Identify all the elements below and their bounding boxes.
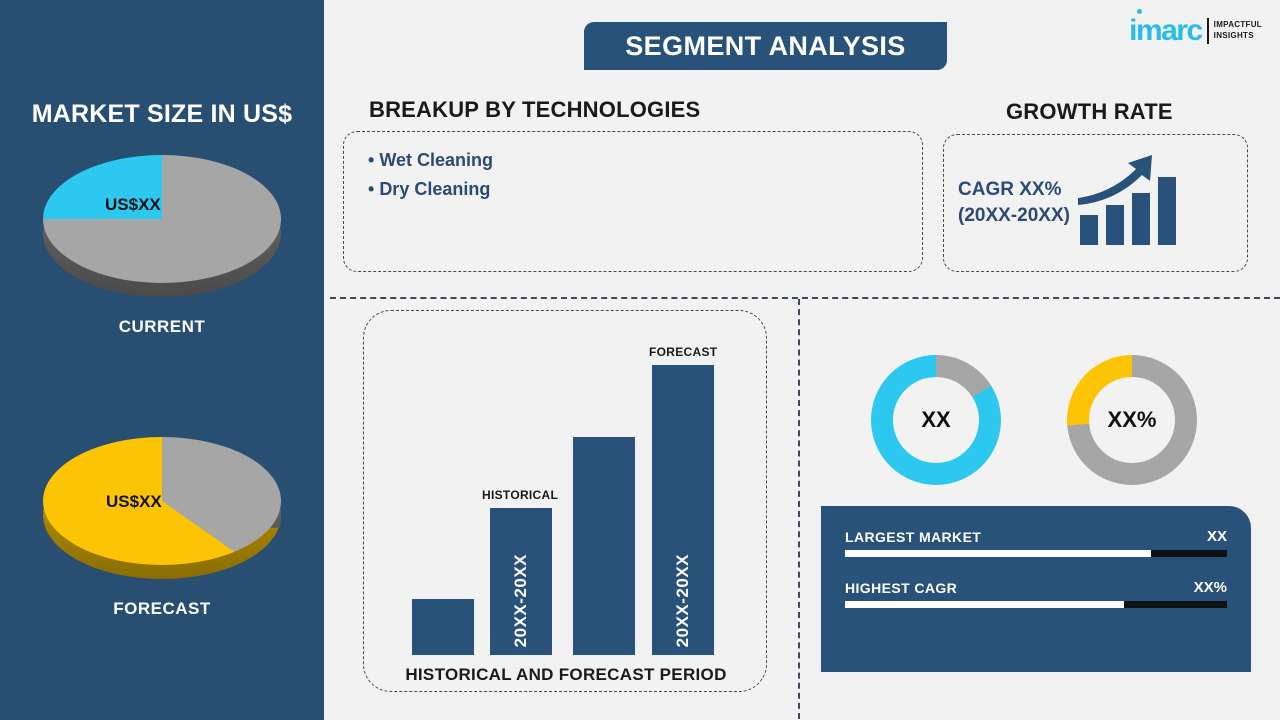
growth-rate-box: CAGR XX% (20XX-20XX) bbox=[943, 134, 1248, 272]
logo-word-text: imarc bbox=[1129, 14, 1202, 47]
page-title: SEGMENT ANALYSIS bbox=[584, 22, 947, 70]
sidebar: MARKET SIZE IN US$ US$XX CURRENT US$XX F… bbox=[0, 0, 324, 720]
historical-caption: HISTORICAL bbox=[482, 488, 558, 502]
pie-top-forecast bbox=[43, 437, 281, 565]
forecast-market-size-block: US$XX FORECAST bbox=[0, 437, 324, 619]
vertical-divider bbox=[798, 299, 800, 719]
bar-group: 20XX-20XX 20XX-20XX HISTORICAL FORECAST bbox=[364, 343, 768, 655]
horizontal-divider bbox=[330, 297, 1280, 299]
bar-4-label: 20XX-20XX bbox=[673, 554, 693, 647]
growth-rate-period: (20XX-20XX) bbox=[958, 203, 1070, 229]
forecast-caption: FORECAST bbox=[649, 345, 717, 359]
bullet-icon: • bbox=[368, 150, 374, 170]
pie-chart-forecast: US$XX bbox=[43, 437, 281, 587]
donut-chart-1: XX bbox=[871, 355, 1001, 485]
logo-tagline-line-2: INSIGHTS bbox=[1214, 31, 1262, 42]
growth-rate-text: CAGR XX% (20XX-20XX) bbox=[958, 177, 1070, 228]
stat-value-largest-market: XX bbox=[1207, 528, 1227, 545]
current-market-size-block: US$XX CURRENT bbox=[0, 155, 324, 337]
logo-tagline-line-1: IMPACTFUL bbox=[1214, 20, 1262, 31]
technology-item-label: Dry Cleaning bbox=[379, 179, 490, 199]
stat-label-largest-market: LARGEST MARKET bbox=[845, 529, 981, 545]
stat-progress-track-largest-market bbox=[845, 550, 1227, 557]
pie-caption-forecast: FORECAST bbox=[0, 599, 324, 619]
bar-1 bbox=[412, 599, 474, 655]
barchart-axis-label: HISTORICAL AND FORECAST PERIOD bbox=[364, 665, 768, 685]
stat-progress-fill-largest-market bbox=[845, 550, 1151, 557]
technologies-title: BREAKUP BY TECHNOLOGIES bbox=[369, 97, 700, 123]
sidebar-title: MARKET SIZE IN US$ bbox=[0, 100, 324, 129]
pie-top-current bbox=[43, 155, 281, 283]
pie-caption-current: CURRENT bbox=[0, 317, 324, 337]
stat-row-highest-cagr: HIGHEST CAGR XX% bbox=[845, 579, 1227, 608]
logo-divider bbox=[1207, 18, 1209, 44]
pie-chart-current: US$XX bbox=[43, 155, 281, 305]
logo-wordmark: imarc bbox=[1129, 16, 1202, 46]
bar-3 bbox=[573, 437, 635, 655]
growth-rate-title: GROWTH RATE bbox=[1006, 99, 1173, 125]
imarc-logo: imarc IMPACTFUL INSIGHTS bbox=[1129, 14, 1262, 48]
stat-progress-track-highest-cagr bbox=[845, 601, 1227, 608]
donut-chart-1-value: XX bbox=[871, 355, 1001, 485]
donut-chart-2-value: XX% bbox=[1067, 355, 1197, 485]
growth-rate-cagr: CAGR XX% bbox=[958, 177, 1070, 203]
growth-arrow-chart-icon bbox=[1076, 153, 1184, 254]
donut-chart-2: XX% bbox=[1067, 355, 1197, 485]
bar-4: 20XX-20XX bbox=[652, 365, 714, 655]
logo-tagline: IMPACTFUL INSIGHTS bbox=[1214, 20, 1262, 42]
technologies-box: •Wet Cleaning •Dry Cleaning bbox=[343, 131, 923, 272]
historical-forecast-chart: 20XX-20XX 20XX-20XX HISTORICAL FORECAST … bbox=[363, 310, 767, 692]
technology-item: •Dry Cleaning bbox=[368, 175, 898, 204]
stat-progress-fill-highest-cagr bbox=[845, 601, 1124, 608]
bar-2: 20XX-20XX bbox=[490, 508, 552, 655]
technology-item: •Wet Cleaning bbox=[368, 146, 898, 175]
bar-2-label: 20XX-20XX bbox=[511, 554, 531, 647]
bullet-icon: • bbox=[368, 179, 374, 199]
technology-item-label: Wet Cleaning bbox=[379, 150, 493, 170]
stats-panel: LARGEST MARKET XX HIGHEST CAGR XX% bbox=[821, 506, 1251, 672]
stat-value-highest-cagr: XX% bbox=[1194, 579, 1227, 596]
stat-row-largest-market: LARGEST MARKET XX bbox=[845, 528, 1227, 557]
stat-label-highest-cagr: HIGHEST CAGR bbox=[845, 580, 957, 596]
